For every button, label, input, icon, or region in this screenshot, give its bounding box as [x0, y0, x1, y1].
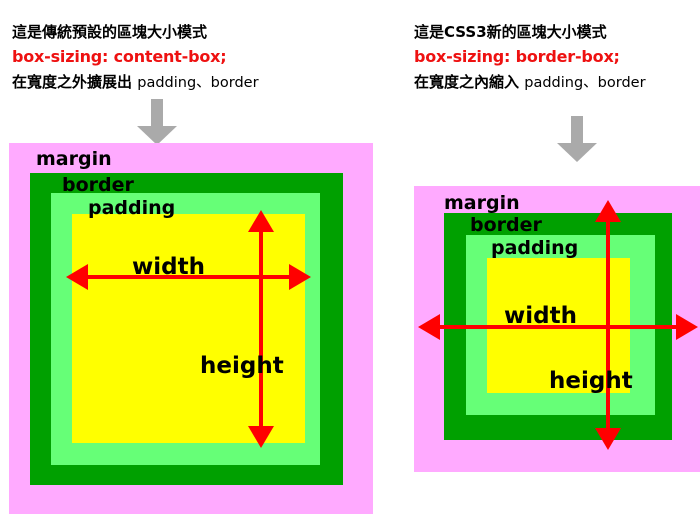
- arrow-head: [557, 143, 597, 162]
- caption-left-line-1: 這是傳統預設的區塊大小模式: [12, 20, 259, 44]
- width-label-right: width: [504, 305, 577, 328]
- caption-content-box: 這是傳統預設的區塊大小模式 box-sizing: content-box; 在…: [12, 20, 259, 96]
- caption-border-box: 這是CSS3新的區塊大小模式 box-sizing: border-box; 在…: [414, 20, 646, 96]
- arrow-shaft: [259, 223, 263, 435]
- arrow-head-right: [676, 314, 698, 340]
- caption-right-line-3-terms: padding、border: [524, 75, 645, 91]
- arrow-head-bottom: [595, 428, 621, 450]
- caption-right-code: box-sizing: border-box;: [414, 44, 646, 70]
- caption-right-line-3: 在寬度之內縮入 padding、border: [414, 70, 646, 95]
- caption-left-line-3-prefix: 在寬度之外擴展出: [12, 73, 132, 91]
- caption-right-line-1: 這是CSS3新的區塊大小模式: [414, 20, 646, 44]
- caption-left-line-3: 在寬度之外擴展出 padding、border: [12, 70, 259, 95]
- arrow-head-bottom: [248, 426, 274, 448]
- arrow-shaft: [606, 213, 610, 437]
- width-label-left: width: [132, 256, 205, 279]
- caption-left-code: box-sizing: content-box;: [12, 44, 259, 70]
- caption-right-line-3-prefix: 在寬度之內縮入: [414, 73, 519, 91]
- border-label-left: border: [62, 176, 134, 195]
- border-label-right: border: [470, 216, 542, 235]
- height-arrow-right: [595, 200, 621, 450]
- height-label-right: height: [549, 370, 633, 393]
- down-arrow-icon-right: [557, 116, 597, 162]
- down-arrow-icon-left: [137, 99, 177, 145]
- height-label-left: height: [200, 355, 284, 378]
- padding-label-right: padding: [491, 239, 578, 258]
- padding-label-left: padding: [88, 199, 175, 218]
- height-arrow-left: [248, 210, 274, 448]
- arrow-shaft: [151, 99, 163, 129]
- caption-left-line-3-terms: padding、border: [137, 75, 258, 91]
- margin-label-right: margin: [444, 194, 520, 213]
- arrow-shaft: [571, 116, 583, 146]
- arrow-head-right: [289, 264, 311, 290]
- margin-label-left: margin: [36, 150, 112, 169]
